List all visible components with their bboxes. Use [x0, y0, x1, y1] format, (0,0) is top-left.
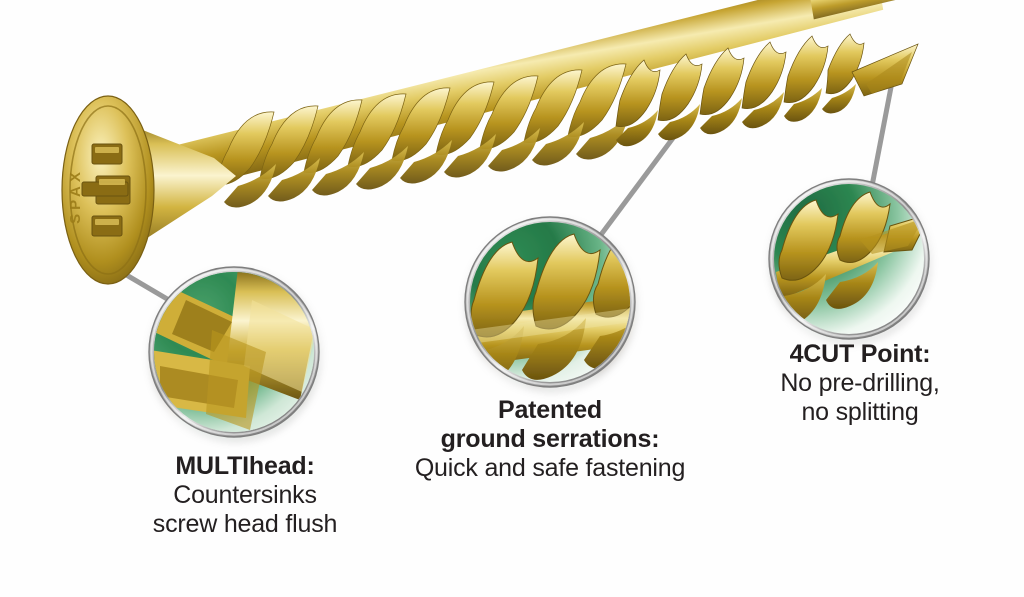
callout-point-heading: 4CUT Point:: [700, 340, 1020, 369]
diagram-canvas: SPAX: [0, 0, 1024, 597]
callout-point-body-line1: No pre-drilling,: [700, 369, 1020, 398]
callout-serrations-heading-line2: ground serrations:: [330, 425, 770, 454]
callout-multihead-body-line1: Countersinks: [60, 481, 430, 510]
magnifier-point[interactable]: [769, 179, 930, 339]
callout-point-body-line2: no splitting: [700, 398, 1020, 427]
screw-head: SPAX: [62, 96, 236, 284]
callout-serrations-body-line1: Quick and safe fastening: [330, 454, 770, 483]
callout-multihead-body-line2: screw head flush: [60, 510, 430, 539]
magnifier-serrations[interactable]: [460, 217, 654, 388]
callout-point: 4CUT Point: No pre-drilling, no splittin…: [700, 340, 1020, 427]
magnifier-multihead[interactable]: [149, 267, 320, 438]
head-brand-text: SPAX: [67, 168, 84, 224]
leader-line-point: [872, 82, 892, 186]
